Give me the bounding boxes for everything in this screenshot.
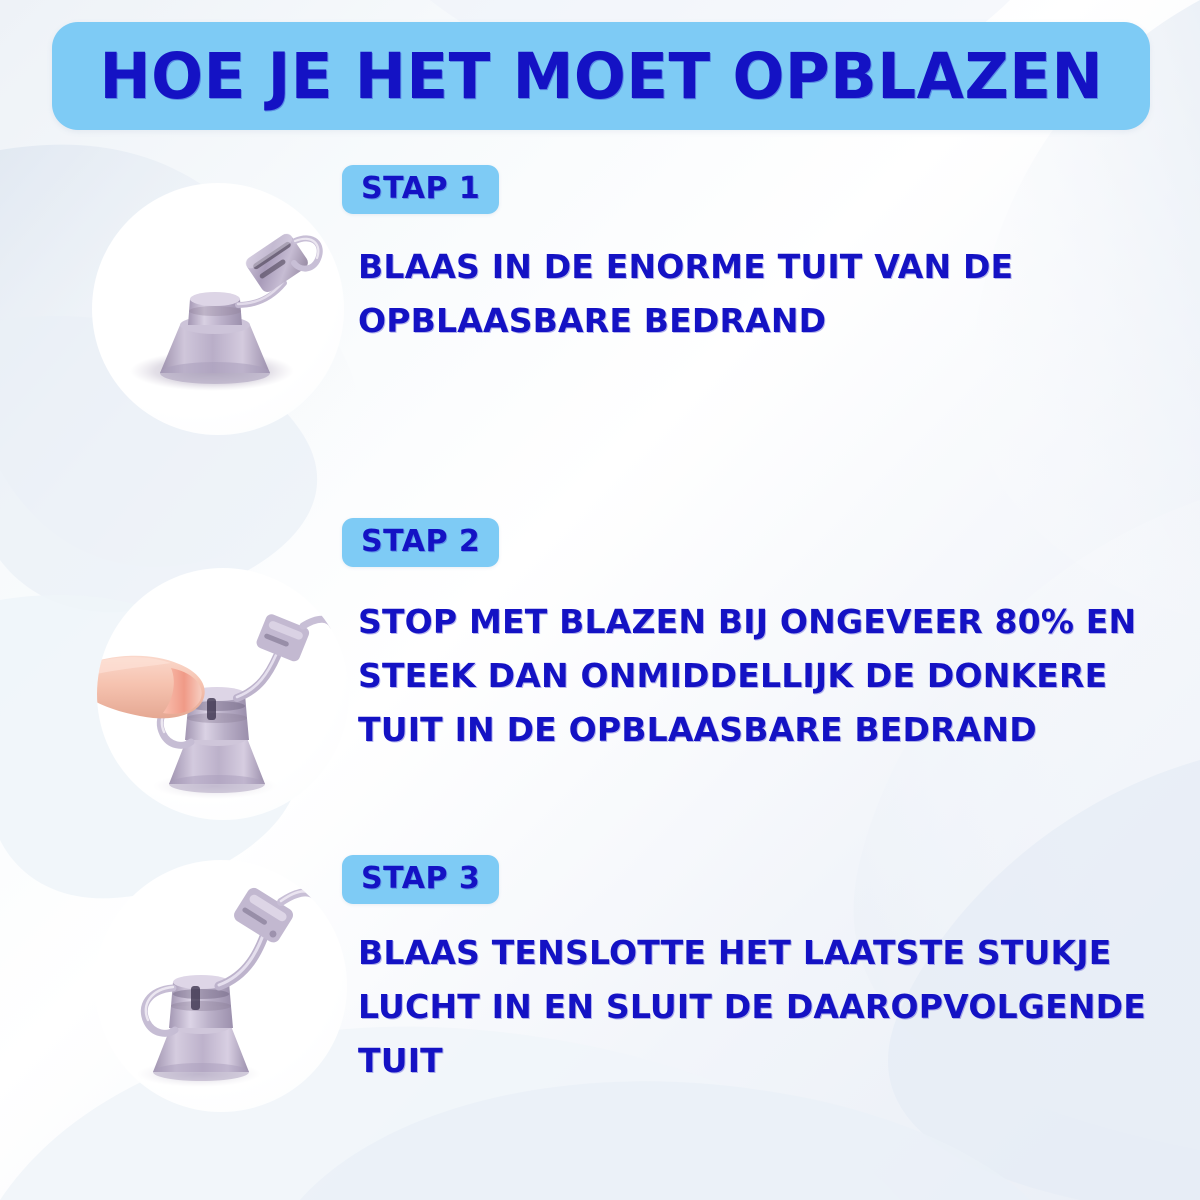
step-2-text: STOP MET BLAZEN BIJ ONGEVEER 80% EN STEE… <box>358 595 1172 757</box>
step-2-body: STAP 2 STOP MET BLAZEN BIJ ONGEVEER 80% … <box>342 518 1172 757</box>
valve-with-open-cap-icon <box>92 183 344 435</box>
title-banner: HOE JE HET MOET OPBLAZEN <box>52 22 1150 130</box>
finger-pressing-valve-icon <box>97 568 349 820</box>
step-2-badge-label: STAP 2 <box>361 524 480 559</box>
step-3-text: BLAAS TENSLOTTE HET LAATSTE STUKJE LUCHT… <box>358 926 1172 1088</box>
step-2-photo-circle <box>97 568 349 820</box>
page-title: HOE JE HET MOET OPBLAZEN <box>99 45 1103 108</box>
step-1-text: BLAAS IN DE ENORME TUIT VAN DE OPBLAASBA… <box>358 240 1158 348</box>
step-2-badge: STAP 2 <box>342 518 499 567</box>
infographic-poster: HOE JE HET MOET OPBLAZEN <box>0 0 1200 1200</box>
step-1-body: STAP 1 BLAAS IN DE ENORME TUIT VAN DE OP… <box>342 165 1172 348</box>
valve-closed-cap-icon <box>95 860 347 1112</box>
step-1-photo-circle <box>92 183 344 435</box>
step-3-body: STAP 3 BLAAS TENSLOTTE HET LAATSTE STUKJ… <box>342 855 1172 1088</box>
step-3-badge: STAP 3 <box>342 855 499 904</box>
step-3-photo-circle <box>95 860 347 1112</box>
step-1-badge: STAP 1 <box>342 165 499 214</box>
step-1-badge-label: STAP 1 <box>361 171 480 206</box>
step-3-badge-label: STAP 3 <box>361 861 480 896</box>
